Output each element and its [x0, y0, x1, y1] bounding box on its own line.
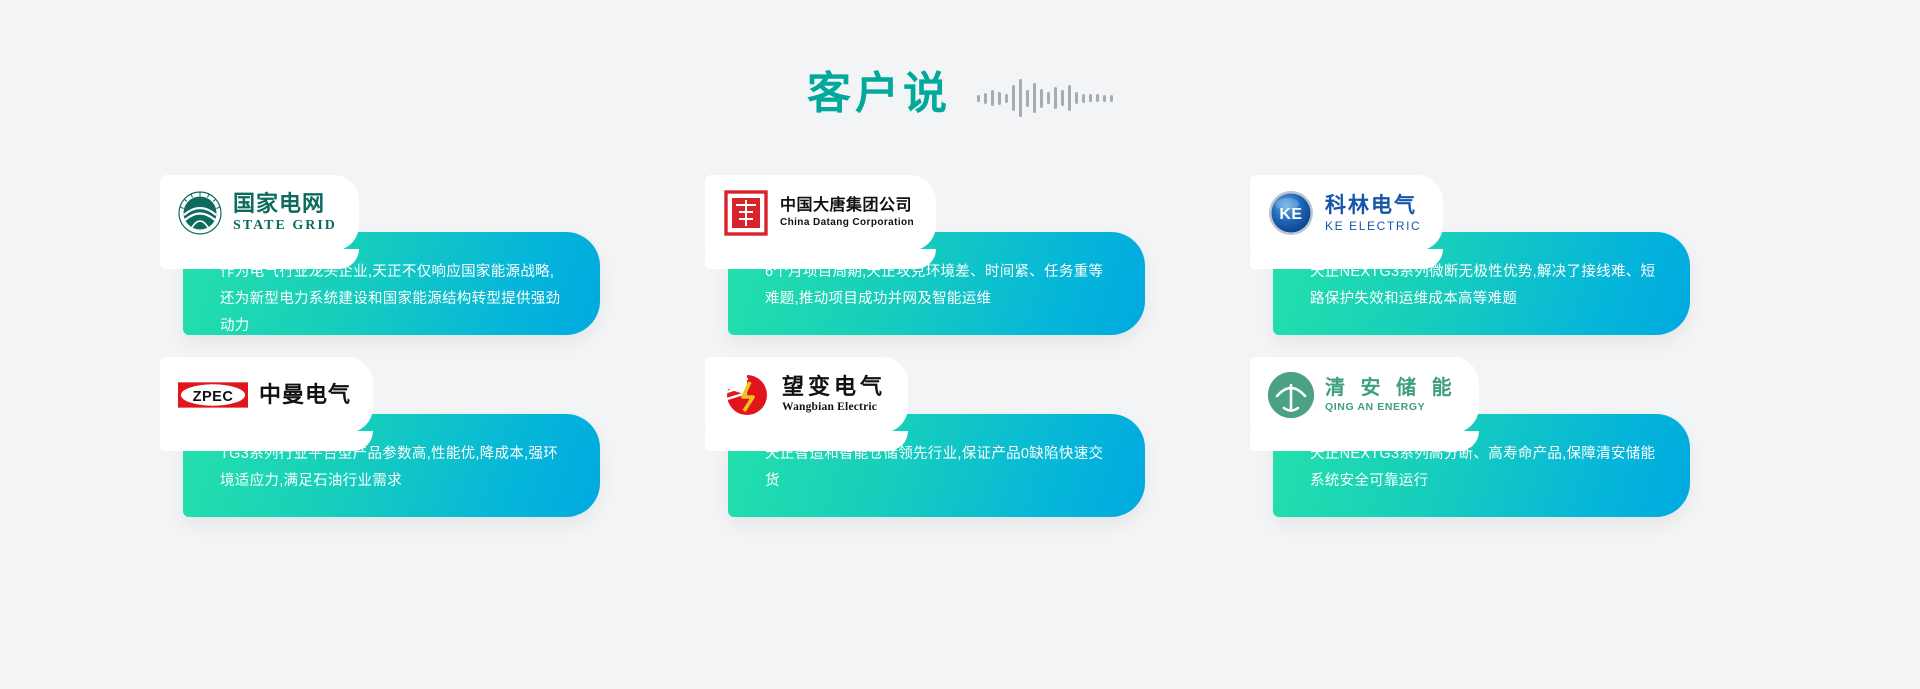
waveform-bar [1103, 95, 1106, 102]
state-grid-globe-icon [178, 191, 222, 235]
waveform-bar [1054, 87, 1057, 109]
waveform-bar [1047, 92, 1050, 104]
brand-logo-plate: KE 科林电气 KE ELECTRIC [1250, 175, 1443, 251]
waveform-bar [1033, 83, 1036, 113]
waveform-bar [1061, 90, 1064, 106]
brand-name-cn: 国家电网 [233, 193, 337, 215]
brand-name-en: KE ELECTRIC [1325, 220, 1421, 232]
brand-logo-plate: 望变电气 Wangbian Electric [705, 357, 908, 433]
testimonial-card[interactable]: TG3系列行业平台型产品参数高,性能优,降成本,强环境适应力,满足石油行业需求 … [160, 357, 600, 517]
brand-name-cn: 望变电气 [782, 376, 886, 398]
brand-name-en: Wangbian Electric [782, 402, 886, 414]
waveform-bar [1026, 90, 1029, 107]
datang-seal-icon [723, 190, 769, 236]
brand-name-cn: 清 安 储 能 [1325, 378, 1457, 398]
ke-electric-circle-icon: KE [1268, 190, 1314, 236]
testimonial-card[interactable]: 天正智造和智能仓储领先行业,保证产品0缺陷快速交货 [705, 357, 1145, 517]
brand-name-cn: 科林电气 [1325, 195, 1421, 216]
testimonial-card[interactable]: 6个月项目周期,天正攻克环境差、时间紧、任务重等难题,推动项目成功并网及智能运维 [705, 175, 1145, 335]
waveform-bar [1068, 85, 1071, 111]
waveform-bar [1012, 85, 1015, 111]
waveform-bar [1005, 94, 1008, 103]
testimonial-cards-grid: 作为电气行业龙头企业,天正不仅响应国家能源战略,还为新型电力系统建设和国家能源结… [160, 175, 1770, 517]
waveform-bar [1096, 94, 1099, 102]
brand-name-cn: 中曼电气 [259, 384, 351, 406]
waveform-bar [1082, 94, 1085, 103]
waveform-bar [1019, 79, 1022, 117]
brand-logo-plate: 国家电网 STATE GRID [160, 175, 359, 251]
brand-name-en: QING AN ENERGY [1325, 402, 1457, 413]
brand-logo-plate: 清 安 储 能 QING AN ENERGY [1250, 357, 1479, 433]
waveform-bar [1075, 92, 1078, 104]
zpec-badge-icon: ZPEC [178, 382, 248, 408]
waveform-bar [998, 92, 1001, 105]
waveform-bar [991, 90, 994, 106]
svg-text:ZPEC: ZPEC [193, 389, 234, 405]
audio-waveform-icon [977, 71, 1113, 117]
qingan-umbrella-icon [1268, 372, 1314, 418]
brand-name-cn: 中国大唐集团公司 [780, 198, 914, 214]
page-title: 客户说 [807, 72, 951, 116]
section-header: 客户说 [0, 58, 1920, 130]
waveform-bar [1089, 94, 1092, 102]
waveform-bar [977, 95, 980, 102]
testimonial-card[interactable]: 天正NEXTG3系列微断无极性优势,解决了接线难、短路保护失效和运维成本高等难题 [1250, 175, 1690, 335]
testimonial-quote: 作为电气行业龙头企业,天正不仅响应国家能源战略,还为新型电力系统建设和国家能源结… [220, 259, 566, 340]
waveform-bar [984, 93, 987, 104]
brand-logo-plate: 中国大唐集团公司 China Datang Corporation [705, 175, 936, 251]
brand-logo-plate: ZPEC 中曼电气 [160, 357, 373, 433]
svg-text:KE: KE [1279, 206, 1302, 223]
wangbian-sun-icon [723, 372, 771, 418]
waveform-bar [1110, 95, 1113, 102]
waveform-bar [1040, 89, 1043, 108]
brand-name-en: STATE GRID [233, 219, 337, 233]
brand-name-en: China Datang Corporation [780, 218, 914, 228]
testimonial-card[interactable]: 作为电气行业龙头企业,天正不仅响应国家能源战略,还为新型电力系统建设和国家能源结… [160, 175, 600, 335]
testimonial-card[interactable]: 天正NEXTG3系列高分断、高寿命产品,保障清安储能系统安全可靠运行 清 安 储… [1250, 357, 1690, 517]
